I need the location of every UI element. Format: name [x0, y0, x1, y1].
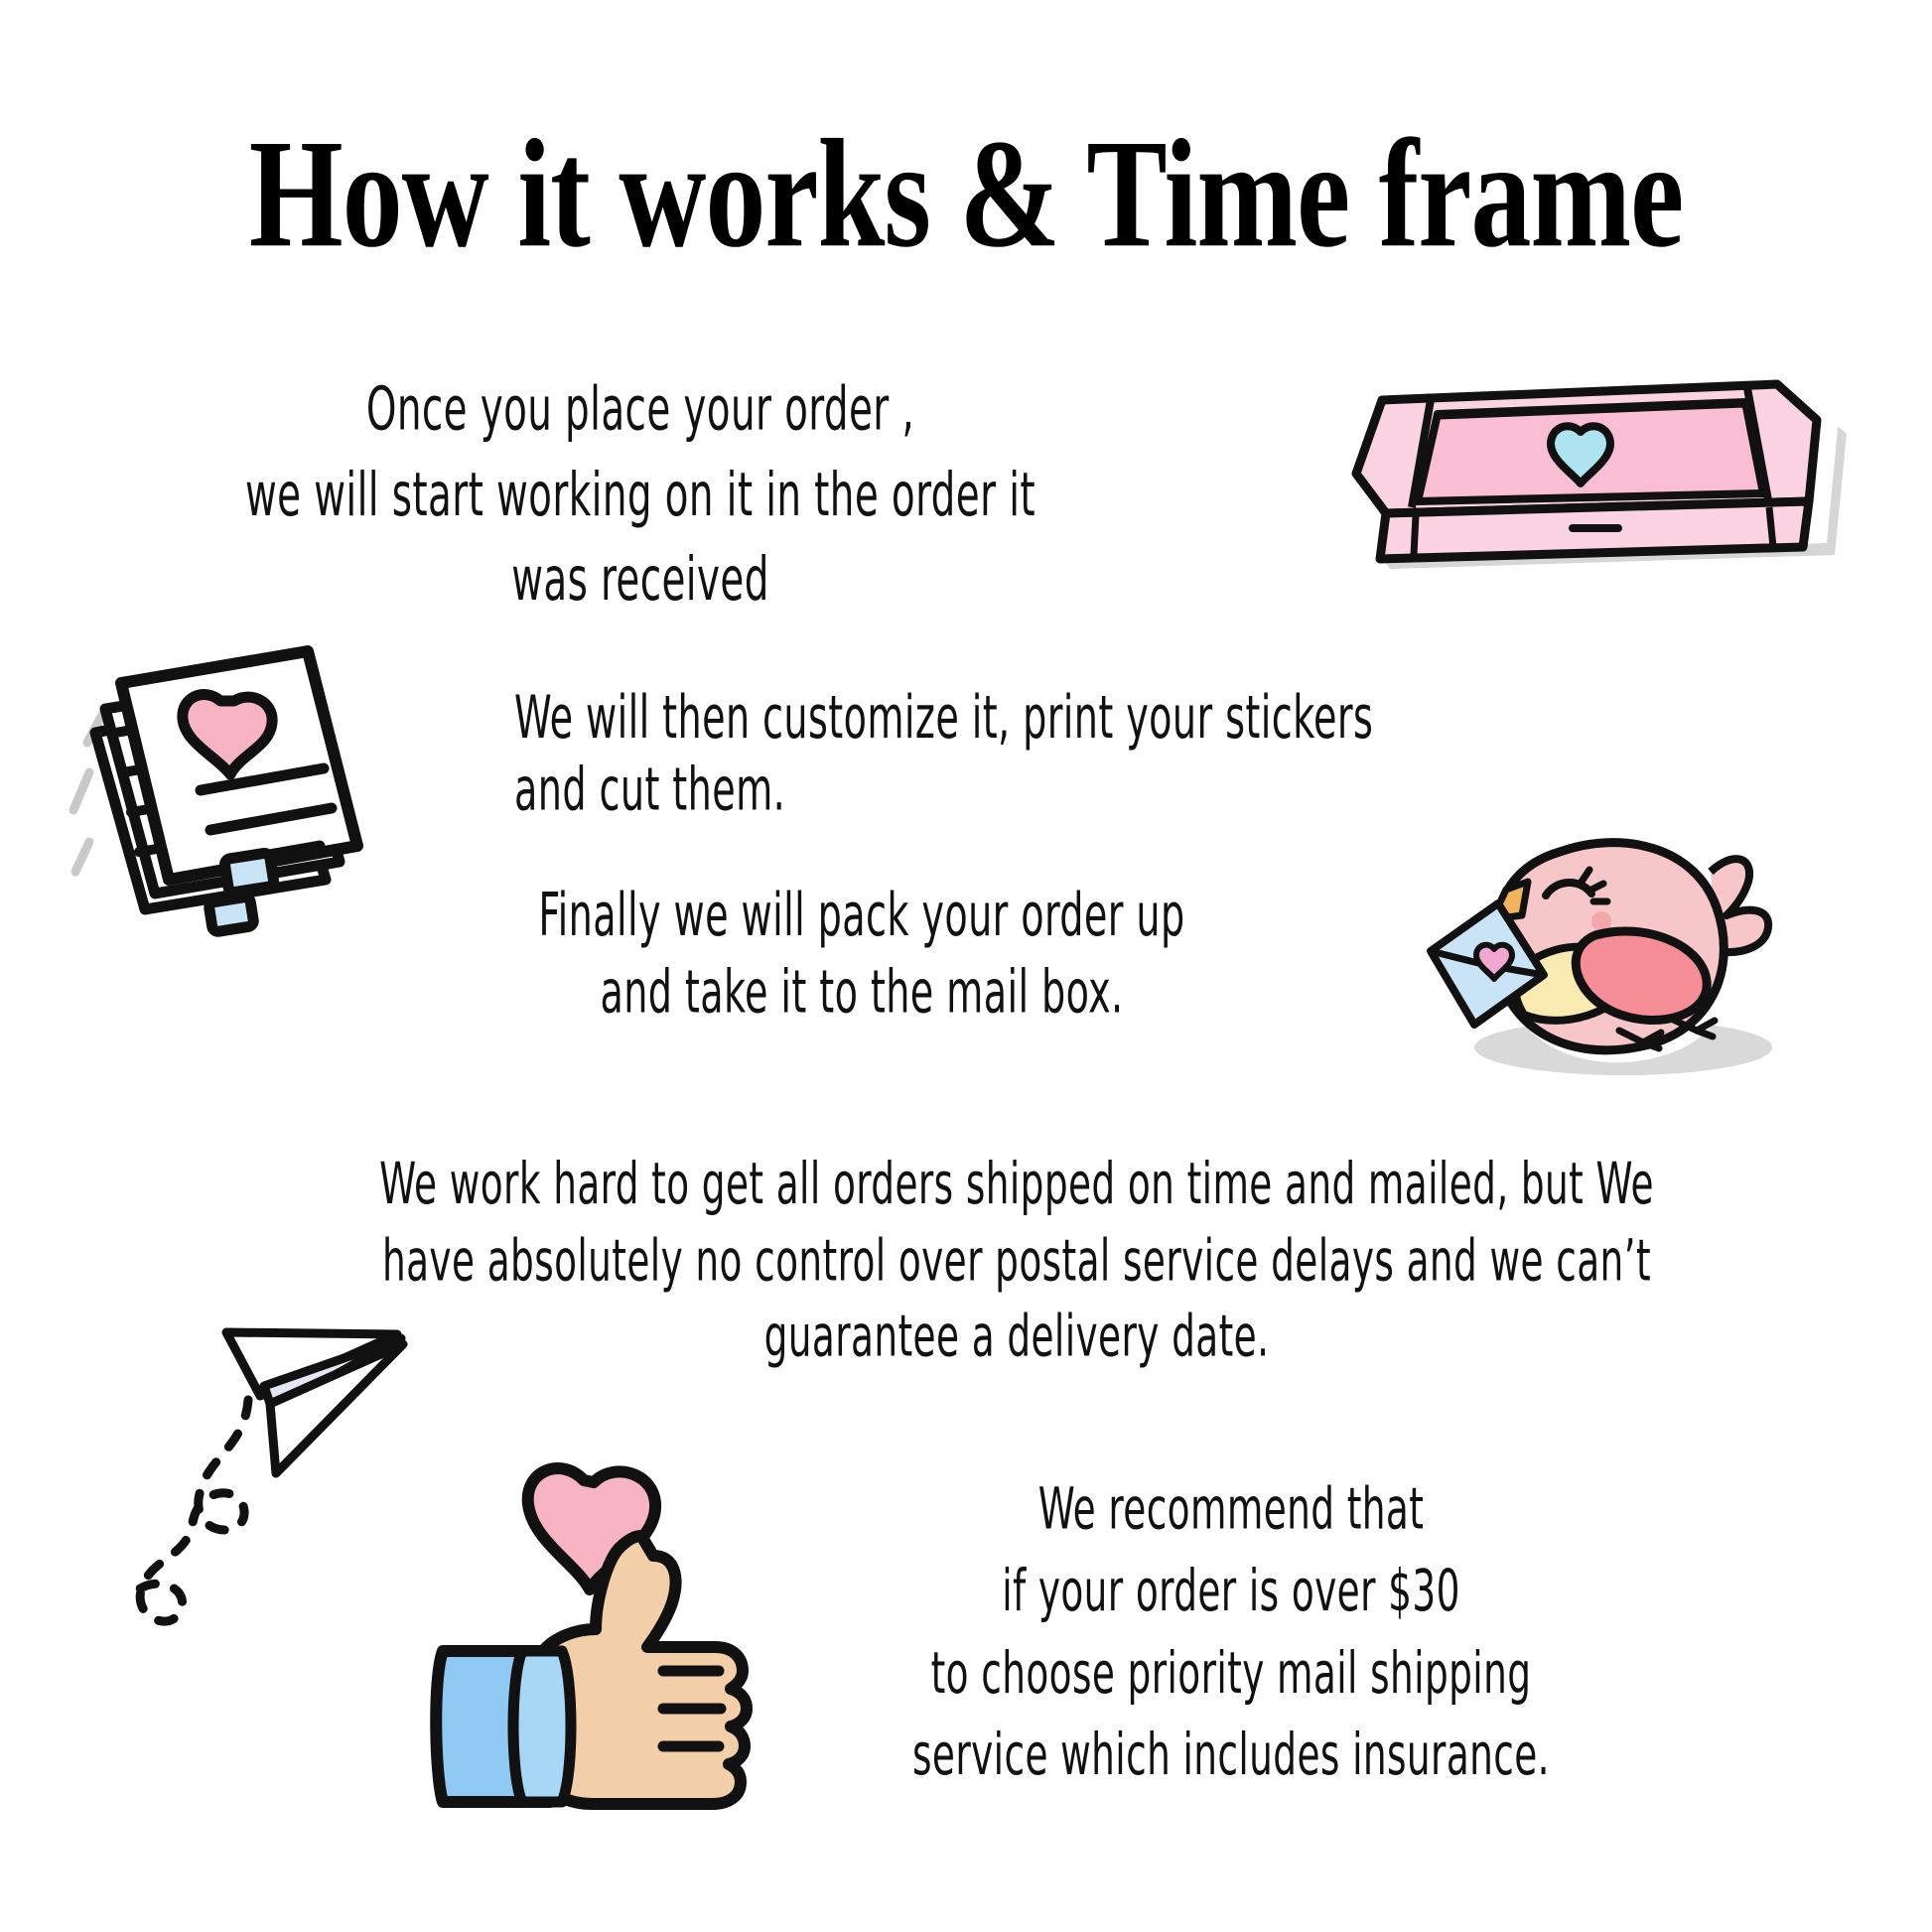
page-title: How it works & Time frame: [0, 117, 1932, 272]
recommend-line-2: if your order is over $30: [834, 1552, 1628, 1634]
sleeve-cuff: [513, 1651, 571, 1802]
recommend-line-3: to choose priority mail shipping: [834, 1633, 1628, 1716]
disclaimer-line-3: guarantee a delivery date.: [199, 1300, 1835, 1376]
disclaimer-line-1: We work hard to get all orders shipped o…: [199, 1147, 1835, 1223]
bird-envelope-illustration: [1425, 824, 1802, 1092]
finally-line-2: and take it to the mail box.: [465, 955, 1259, 1032]
disclaimer-line-2: have absolutely no control over postal s…: [199, 1223, 1835, 1300]
customize-paragraph: We will then customize it, print your st…: [514, 683, 1547, 827]
finally-paragraph: Finally we will pack your order up and t…: [465, 879, 1259, 1032]
cutting-machine-illustration: [1320, 362, 1857, 591]
shipping-disclaimer-paragraph: We work hard to get all orders shipped o…: [199, 1147, 1835, 1376]
machine-front-slot: [1569, 524, 1622, 532]
paper-airplane-illustration: [60, 1301, 407, 1658]
thumbs-up-illustration: [427, 1445, 755, 1817]
recommend-line-4: service which includes insurance.: [834, 1716, 1628, 1798]
machine-front-left-tick: [1414, 515, 1416, 555]
blue-tab-front: [224, 853, 275, 894]
finally-line-1: Finally we will pack your order up: [465, 879, 1259, 955]
customize-line-2: and cut them.: [514, 755, 1547, 826]
intro-line-2: we will start working on it in the order…: [215, 453, 1065, 538]
intro-line-1: Once you place your order ,: [215, 367, 1065, 453]
recommend-line-1: We recommend that: [834, 1469, 1628, 1552]
customize-line-1: We will then customize it, print your st…: [514, 683, 1547, 755]
recommendation-paragraph: We recommend that if your order is over …: [834, 1469, 1628, 1798]
machine-front-right-tick: [1769, 507, 1773, 547]
sticker-sheets-illustration: [60, 606, 407, 923]
airplane-dashed-trail: [129, 1400, 248, 1621]
blue-tab-middle: [208, 897, 254, 932]
intro-paragraph: Once you place your order , we will star…: [215, 367, 1065, 623]
